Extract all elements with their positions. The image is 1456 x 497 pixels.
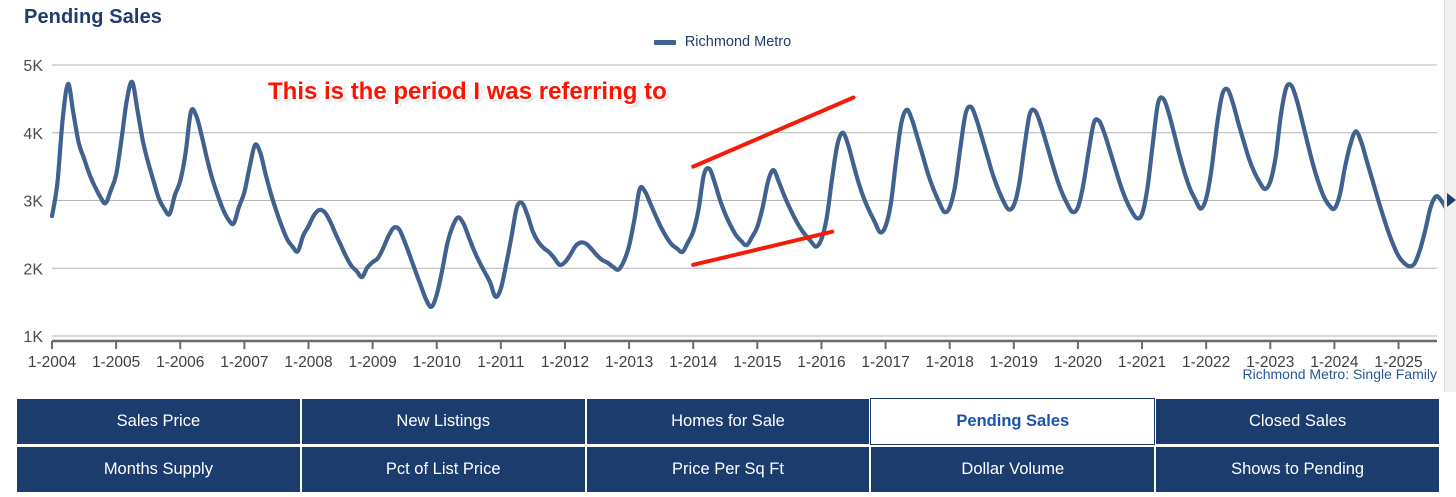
svg-text:1-2016: 1-2016 bbox=[797, 354, 845, 371]
svg-text:1-2020: 1-2020 bbox=[1054, 354, 1103, 371]
svg-text:1-2013: 1-2013 bbox=[605, 354, 653, 371]
svg-text:1-2021: 1-2021 bbox=[1118, 354, 1166, 371]
svg-text:1-2018: 1-2018 bbox=[926, 354, 974, 371]
svg-text:4K: 4K bbox=[23, 126, 43, 143]
x-axis bbox=[52, 341, 1437, 349]
metric-tabs-row-1: Sales PriceNew ListingsHomes for SalePen… bbox=[16, 398, 1440, 445]
svg-text:1-2008: 1-2008 bbox=[284, 354, 332, 371]
chart-card: Pending Sales Richmond Metro 1K2K3K4K5K … bbox=[0, 0, 1445, 392]
tab-pct-of-list-price[interactable]: Pct of List Price bbox=[301, 446, 586, 493]
x-axis-tick-labels: 1-20041-20051-20061-20071-20081-20091-20… bbox=[28, 354, 1423, 371]
tab-shows-to-pending[interactable]: Shows to Pending bbox=[1155, 446, 1440, 493]
svg-text:1-2010: 1-2010 bbox=[413, 354, 462, 371]
trend-annotation-lines bbox=[693, 98, 853, 265]
series-line-richmond-metro bbox=[52, 82, 1445, 307]
svg-text:5K: 5K bbox=[23, 58, 43, 75]
svg-text:1-2015: 1-2015 bbox=[733, 354, 781, 371]
period-callout-annotation: This is the period I was referring to bbox=[268, 78, 667, 106]
svg-text:1-2012: 1-2012 bbox=[541, 354, 589, 371]
pending-sales-dashboard: Pending Sales Richmond Metro 1K2K3K4K5K … bbox=[0, 0, 1456, 497]
carousel-next-button[interactable] bbox=[1444, 0, 1456, 392]
svg-text:1K: 1K bbox=[23, 329, 43, 346]
svg-text:1-2017: 1-2017 bbox=[861, 354, 909, 371]
tab-dollar-volume[interactable]: Dollar Volume bbox=[870, 446, 1155, 493]
y-axis-tick-labels: 1K2K3K4K5K bbox=[23, 58, 43, 346]
upper-resistance-line bbox=[693, 98, 853, 167]
svg-text:1-2014: 1-2014 bbox=[669, 354, 718, 371]
svg-text:3K: 3K bbox=[23, 194, 43, 211]
tab-price-per-sq-ft[interactable]: Price Per Sq Ft bbox=[586, 446, 871, 493]
pending-sales-line-chart: 1K2K3K4K5K 1-20041-20051-20061-20071-200… bbox=[0, 0, 1445, 392]
tab-pending-sales[interactable]: Pending Sales bbox=[870, 398, 1155, 445]
chart-gridlines bbox=[52, 65, 1437, 336]
chart-footnote: Richmond Metro: Single Family bbox=[1242, 366, 1437, 382]
svg-text:2K: 2K bbox=[23, 261, 43, 278]
metric-tabs-row-2: Months SupplyPct of List PricePrice Per … bbox=[16, 446, 1440, 493]
tab-closed-sales[interactable]: Closed Sales bbox=[1155, 398, 1440, 445]
chevron-right-icon bbox=[1447, 193, 1456, 207]
svg-text:1-2009: 1-2009 bbox=[348, 354, 396, 371]
tab-months-supply[interactable]: Months Supply bbox=[16, 446, 301, 493]
svg-text:1-2019: 1-2019 bbox=[990, 354, 1038, 371]
svg-text:1-2007: 1-2007 bbox=[220, 354, 268, 371]
svg-text:1-2004: 1-2004 bbox=[28, 354, 77, 371]
tab-new-listings[interactable]: New Listings bbox=[301, 398, 586, 445]
lower-support-line bbox=[693, 232, 832, 265]
tab-sales-price[interactable]: Sales Price bbox=[16, 398, 301, 445]
svg-text:1-2006: 1-2006 bbox=[156, 354, 204, 371]
svg-text:1-2011: 1-2011 bbox=[477, 354, 524, 371]
tab-homes-for-sale[interactable]: Homes for Sale bbox=[586, 398, 871, 445]
svg-text:1-2005: 1-2005 bbox=[92, 354, 140, 371]
svg-text:1-2022: 1-2022 bbox=[1182, 354, 1230, 371]
